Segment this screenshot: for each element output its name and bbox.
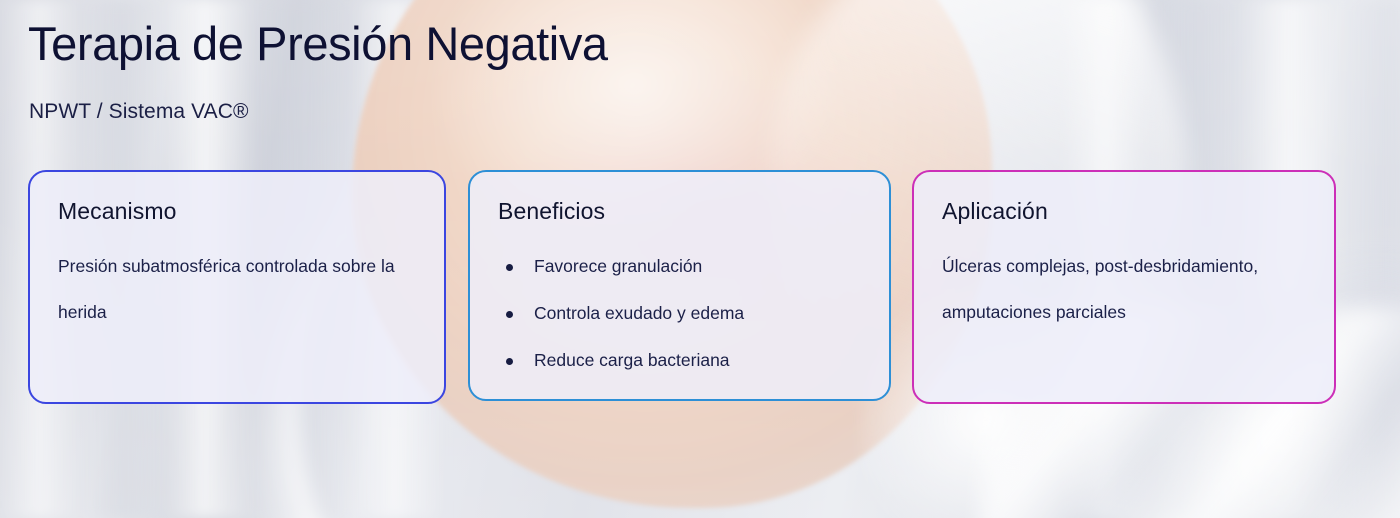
- card-aplicacion: Aplicación Úlceras complejas, post-desbr…: [912, 170, 1336, 404]
- page-subtitle: NPWT / Sistema VAC®: [29, 100, 249, 124]
- card-mecanismo-body: Presión subatmosférica controlada sobre …: [58, 243, 420, 335]
- bullet-dot-icon: [506, 311, 513, 318]
- bullet-dot-icon: [506, 358, 513, 365]
- page-title: Terapia de Presión Negativa: [28, 18, 608, 71]
- list-item-label: Controla exudado y edema: [534, 303, 744, 323]
- card-mecanismo-title: Mecanismo: [58, 198, 420, 225]
- card-beneficios-title: Beneficios: [498, 198, 865, 225]
- slide-root: Terapia de Presión Negativa NPWT / Siste…: [0, 0, 1400, 518]
- list-item-label: Reduce carga bacteriana: [534, 350, 730, 370]
- list-item: Reduce carga bacteriana: [498, 337, 865, 384]
- list-item: Favorece granulación: [498, 243, 865, 290]
- list-item-label: Favorece granulación: [534, 256, 702, 276]
- card-beneficios-list: Favorece granulación Controla exudado y …: [498, 243, 865, 384]
- slide-content: Terapia de Presión Negativa NPWT / Siste…: [0, 0, 1400, 518]
- card-aplicacion-body: Úlceras complejas, post-desbridamiento, …: [942, 243, 1310, 335]
- bullet-dot-icon: [506, 264, 513, 271]
- card-beneficios: Beneficios Favorece granulación Controla…: [468, 170, 891, 401]
- list-item: Controla exudado y edema: [498, 290, 865, 337]
- card-mecanismo: Mecanismo Presión subatmosférica control…: [28, 170, 446, 404]
- card-aplicacion-title: Aplicación: [942, 198, 1310, 225]
